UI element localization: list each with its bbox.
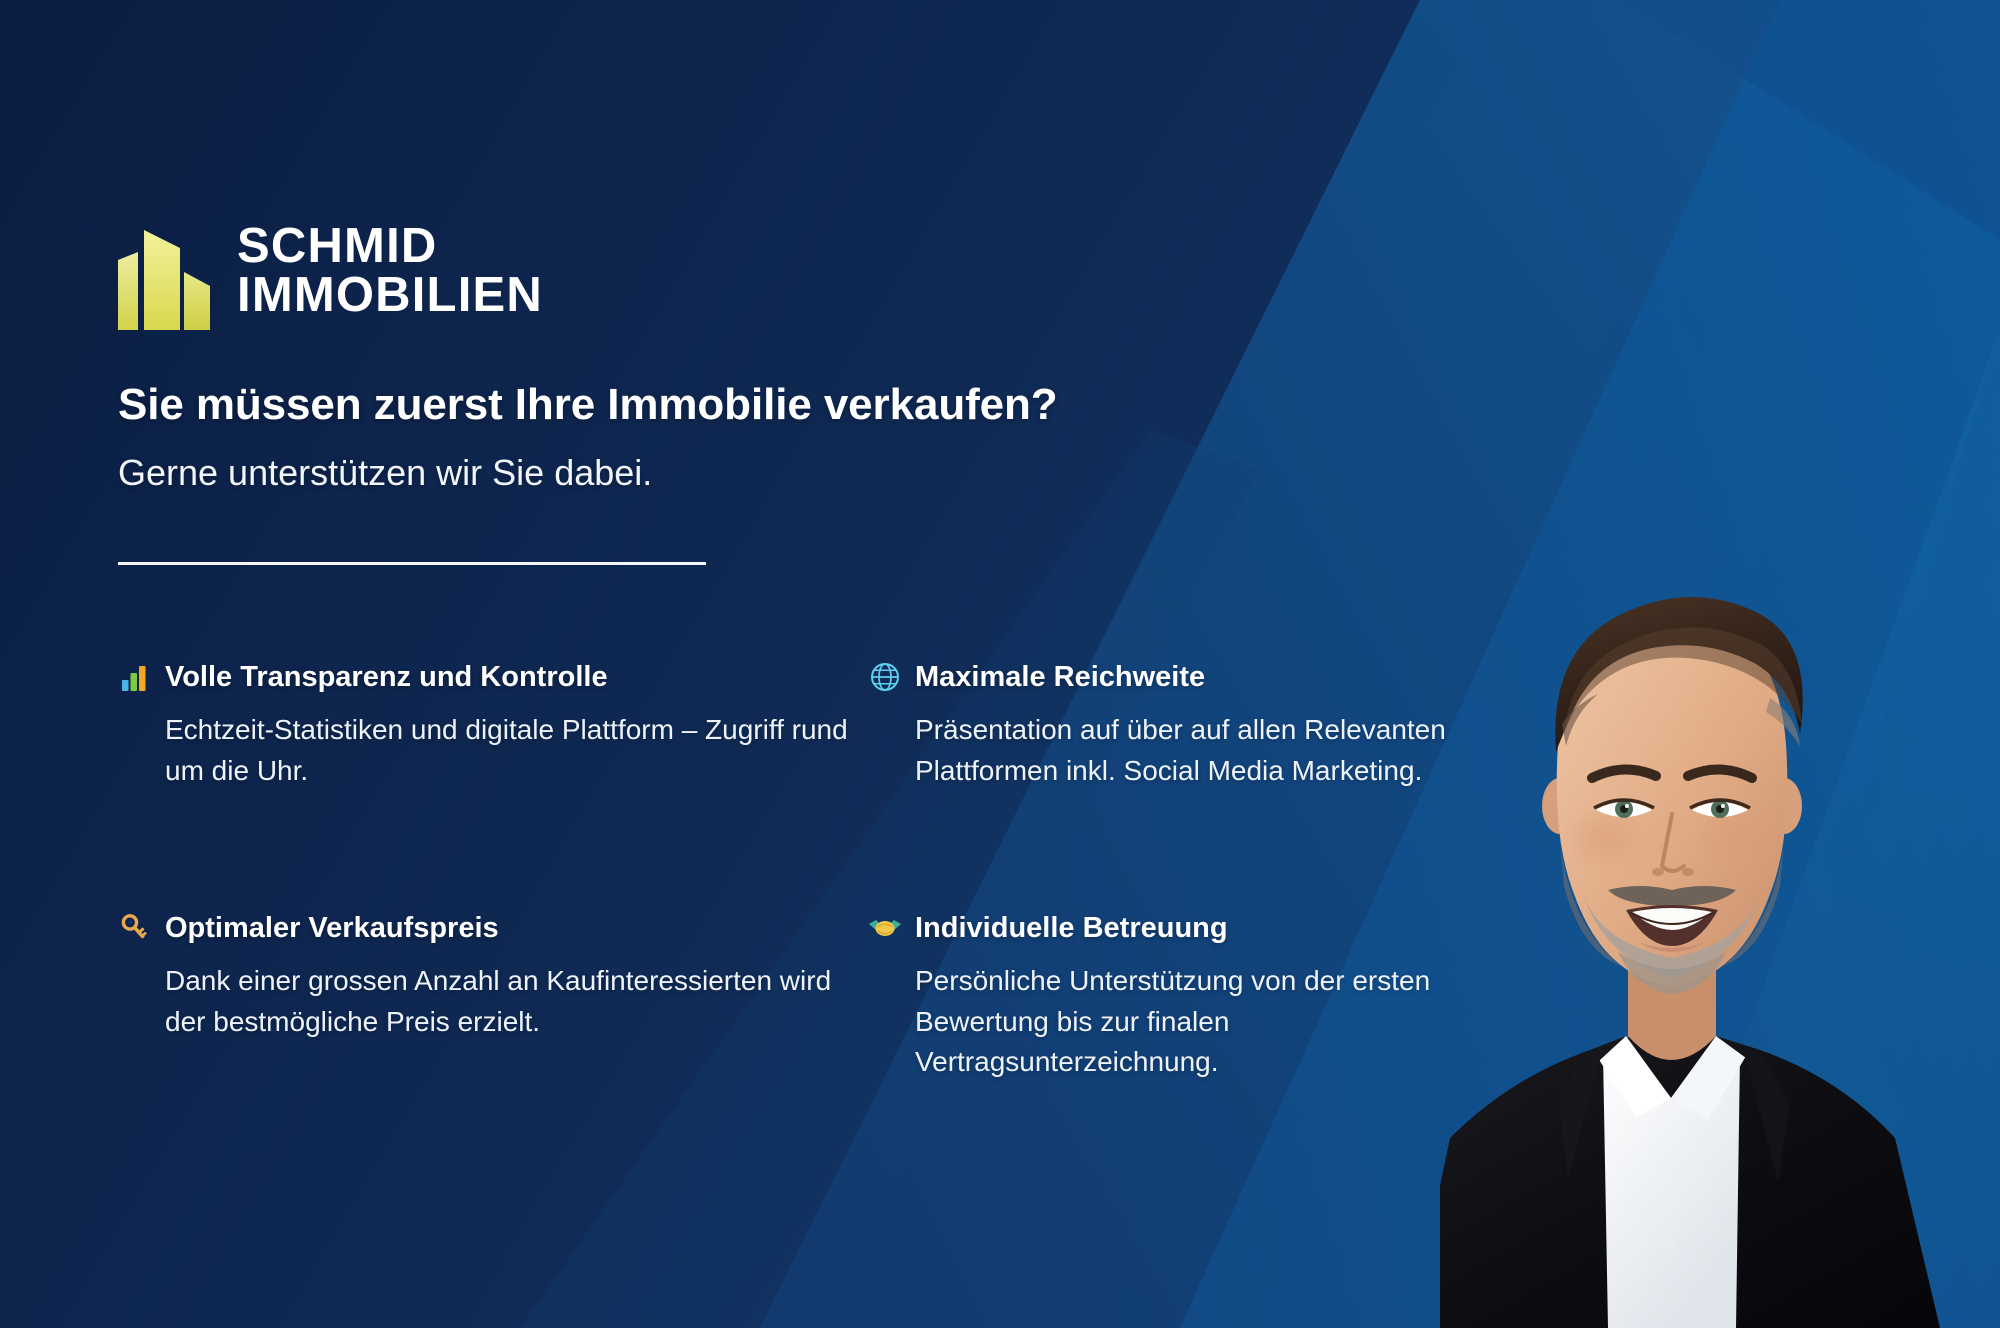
feature-title: Maximale Reichweite	[915, 661, 1205, 694]
key-icon	[118, 911, 152, 945]
brand-name-line2: IMMOBILIEN	[237, 273, 543, 318]
handshake-icon	[868, 911, 902, 945]
divider-rule	[118, 562, 706, 565]
feature-title: Optimaler Verkaufspreis	[165, 912, 499, 945]
feature-title: Volle Transparenz und Kontrolle	[165, 661, 608, 694]
feature-item-transparenz: Volle Transparenz und Kontrolle Echtzeit…	[118, 660, 868, 791]
brand-name-line1: SCHMID	[237, 224, 543, 269]
globe-icon	[868, 660, 902, 694]
marketing-banner: SCHMID IMMOBILIEN Sie müssen zuerst Ihre…	[0, 0, 2000, 1328]
feature-header: Maximale Reichweite	[868, 660, 1538, 694]
brand-logo[interactable]: SCHMID IMMOBILIEN	[118, 212, 543, 330]
feature-body: Präsentation auf über auf allen Relevant…	[868, 710, 1538, 791]
feature-header: Volle Transparenz und Kontrolle	[118, 660, 868, 694]
building-logo-icon	[118, 212, 210, 330]
feature-title: Individuelle Betreuung	[915, 912, 1228, 945]
feature-body: Persönliche Unterstützung von der ersten…	[868, 961, 1538, 1083]
feature-item-betreuung: Individuelle Betreuung Persönliche Unter…	[868, 911, 1538, 1083]
page-title: Sie müssen zuerst Ihre Immobilie verkauf…	[118, 380, 1058, 430]
feature-header: Individuelle Betreuung	[868, 911, 1538, 945]
feature-body: Echtzeit-Statistiken und digitale Plattf…	[118, 710, 868, 791]
feature-header: Optimaler Verkaufspreis	[118, 911, 868, 945]
feature-item-reichweite: Maximale Reichweite Präsentation auf übe…	[868, 660, 1538, 791]
feature-item-verkaufspreis: Optimaler Verkaufspreis Dank einer gross…	[118, 911, 868, 1083]
feature-list: Volle Transparenz und Kontrolle Echtzeit…	[118, 660, 1538, 1083]
feature-body: Dank einer grossen Anzahl an Kaufinteres…	[118, 961, 868, 1042]
bar-chart-icon	[118, 660, 152, 694]
page-subtitle: Gerne unterstützen wir Sie dabei.	[118, 452, 652, 494]
